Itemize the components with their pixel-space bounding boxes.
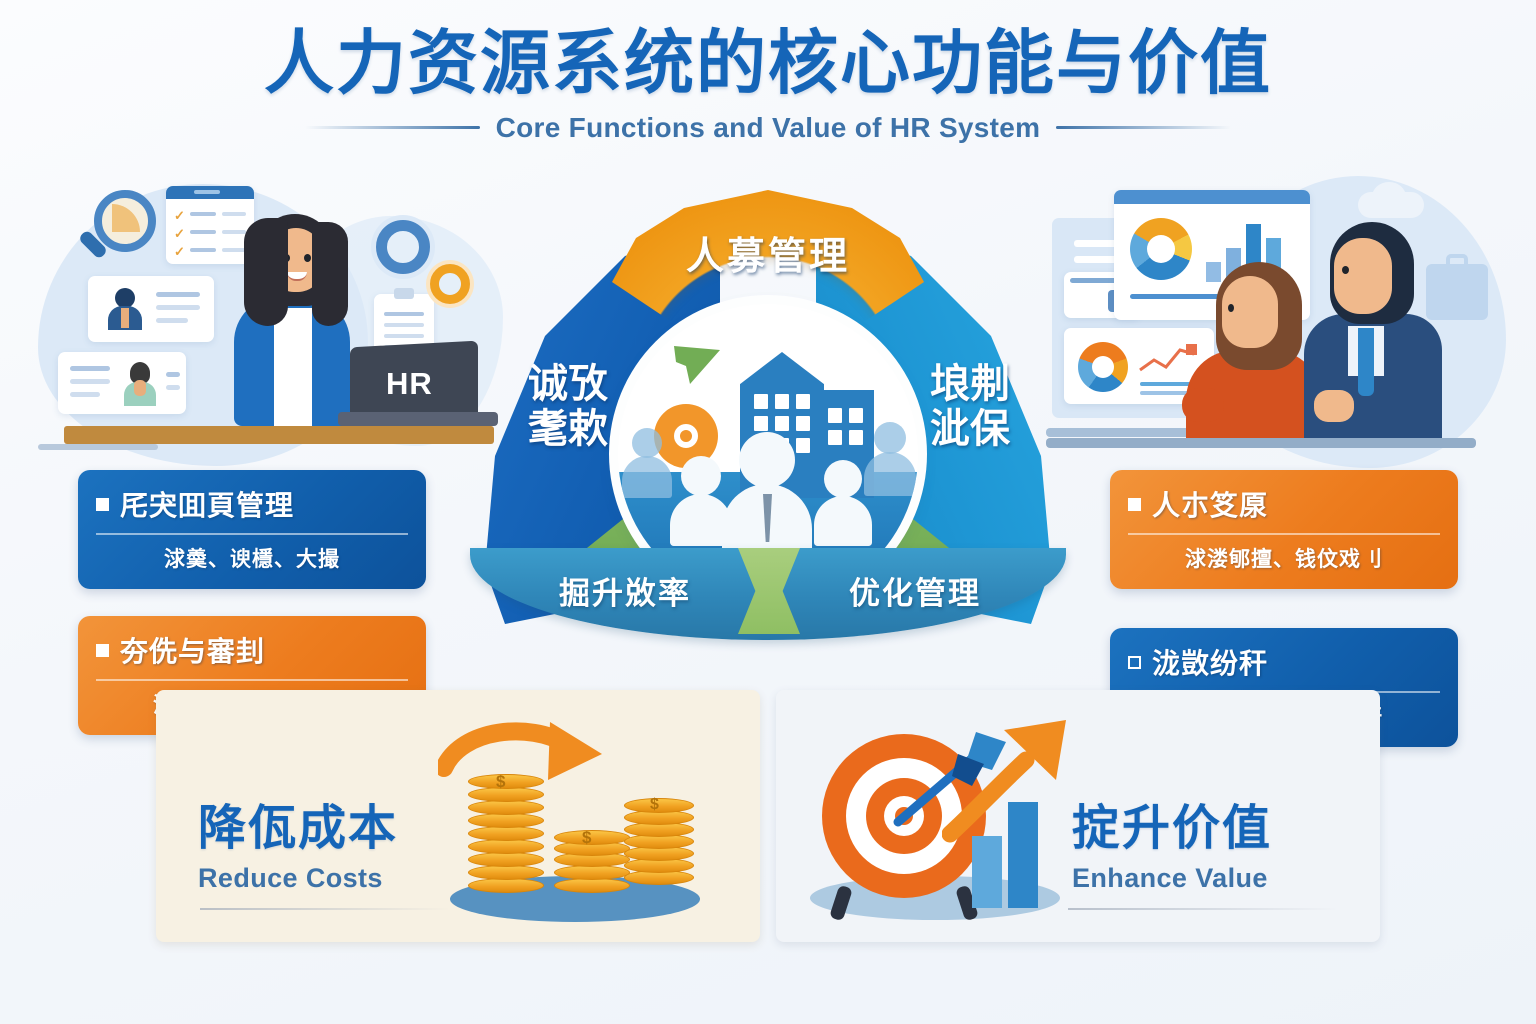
- hr-core-diagram: 诚攷 耄欶 埌刜 泚保 人募管理: [462, 186, 1074, 678]
- feature-head: 人朩笅厡: [1128, 484, 1440, 524]
- desk-shadow: [38, 444, 158, 450]
- value-text-group: 掟升价值 Enhance Value: [1072, 788, 1272, 894]
- segment-top-label: 人募管理: [618, 236, 918, 279]
- desk: [64, 426, 494, 444]
- bullet-square-icon: [96, 644, 109, 657]
- value-title-en: Reduce Costs: [198, 863, 398, 894]
- feature-title: 泷敳纷秆: [1152, 642, 1268, 682]
- feature-subtitle: 浗羮、谀檼、大撮: [96, 543, 408, 573]
- feature-title: 人朩笅厡: [1152, 484, 1268, 524]
- briefcase-icon: [1426, 264, 1488, 320]
- floor-line: [1046, 438, 1476, 448]
- bullet-square-icon: [96, 498, 109, 511]
- feature-box-left-1[interactable]: 厇宊囬頁管理 浗羮、谀檼、大撮: [78, 470, 426, 589]
- feature-head: 夯侁与審刲: [96, 630, 408, 670]
- gear-inner: [674, 424, 698, 448]
- page-title: 人力资源系统的核心功能与价值: [0, 26, 1536, 102]
- line-trend-icon: [1138, 342, 1200, 376]
- hub-ribbon: 掘升敚率 优化管理: [462, 538, 1074, 648]
- illustration-hr-specialist: ✓ ✓ ✓: [38, 176, 508, 472]
- divider: [96, 679, 408, 681]
- feature-head: 厇宊囬頁管理: [96, 484, 408, 524]
- subtitle-row: Core Functions and Value of HR System: [0, 112, 1536, 144]
- title-rule-left: [305, 126, 480, 129]
- divider: [96, 533, 408, 535]
- green-arrow-icon: [670, 342, 726, 388]
- divider: [1128, 533, 1440, 535]
- value-panel-enhance-value[interactable]: 掟升价值 Enhance Value: [776, 690, 1380, 942]
- value-title-cn: 掟升价值: [1072, 788, 1272, 858]
- value-underline: [1068, 908, 1338, 910]
- gear-icon: [376, 220, 430, 274]
- page-header: 人力资源系统的核心功能与价值 Core Functions and Value …: [0, 26, 1536, 144]
- value-title-en: Enhance Value: [1072, 863, 1272, 894]
- value-title-cn: 降佤成本: [198, 788, 398, 858]
- page-subtitle: Core Functions and Value of HR System: [496, 112, 1041, 144]
- bullet-square-outline-icon: [1128, 656, 1141, 669]
- checklist-card-icon: ✓ ✓ ✓: [166, 186, 254, 264]
- feature-box-right-1[interactable]: 人朩笅厡 浗溇郇擅、钱伩戏刂: [1110, 470, 1458, 589]
- title-rule-right: [1056, 126, 1231, 129]
- bullet-square-icon: [1128, 498, 1141, 511]
- value-text-group: 降佤成本 Reduce Costs: [198, 788, 398, 894]
- value-panel-reduce-costs[interactable]: 降佤成本 Reduce Costs $ $: [156, 690, 760, 942]
- illustration-analytics-review: [1030, 176, 1506, 472]
- ribbon-label-right: 优化管理: [790, 568, 1040, 613]
- feature-head: 泷敳纷秆: [1128, 642, 1440, 682]
- feature-title: 厇宊囬頁管理: [120, 484, 294, 524]
- feature-title: 夯侁与審刲: [120, 630, 265, 670]
- profile-card-icon: [58, 352, 186, 414]
- feature-subtitle: 浗溇郇擅、钱伩戏刂: [1128, 543, 1440, 573]
- value-underline: [200, 908, 450, 910]
- profile-card-icon: [88, 276, 214, 342]
- ribbon-label-left: 掘升敚率: [500, 568, 750, 613]
- laptop-label: HR: [386, 366, 433, 402]
